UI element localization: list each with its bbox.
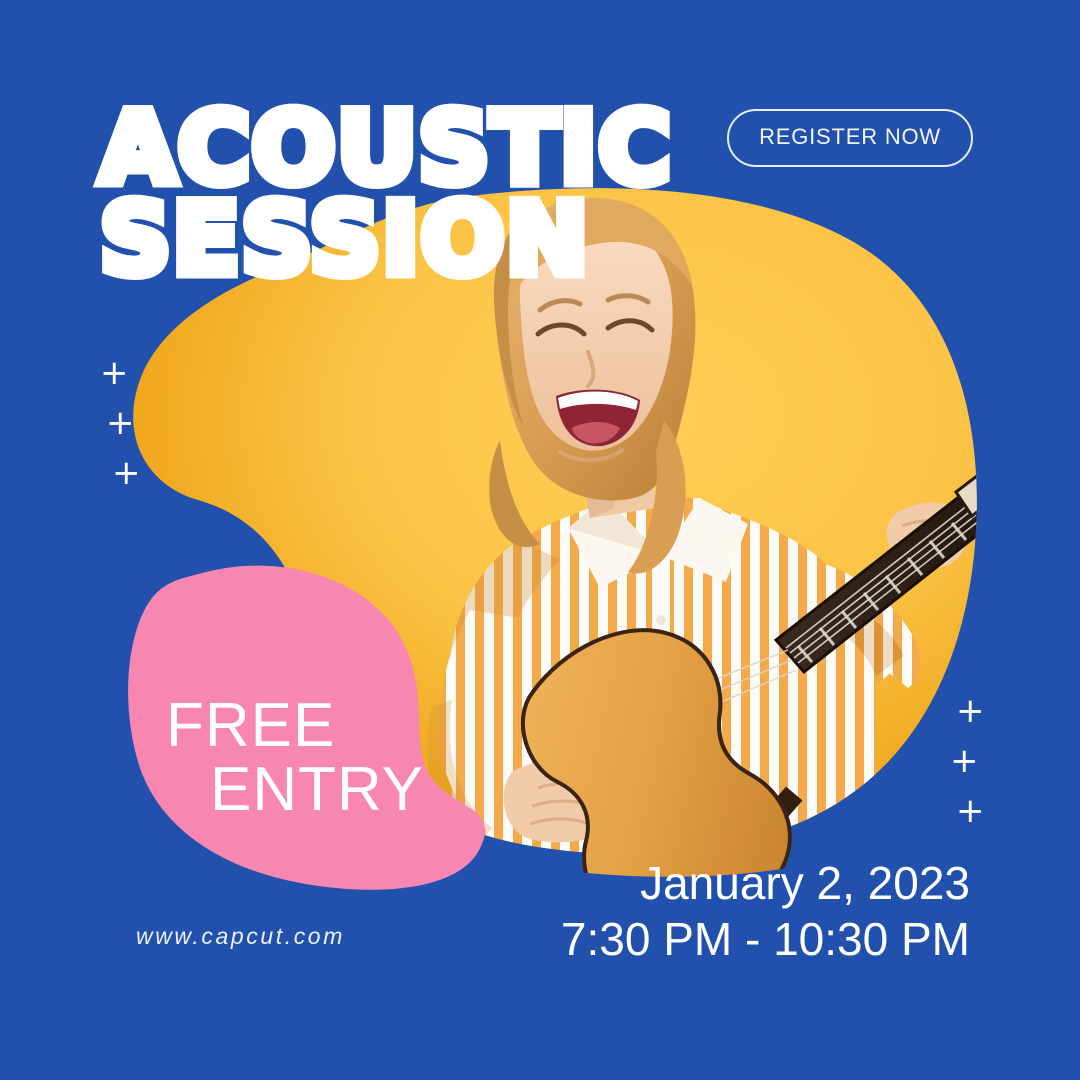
plus-icon: + bbox=[956, 694, 985, 728]
plus-decoration-group-left: + + + bbox=[96, 356, 156, 496]
event-date: January 2, 2023 bbox=[561, 855, 970, 911]
free-entry-line-1: FREE bbox=[150, 694, 424, 758]
free-entry-badge: FREE ENTRY bbox=[150, 694, 424, 822]
event-schedule: January 2, 2023 7:30 PM - 10:30 PM bbox=[561, 855, 970, 967]
register-now-button[interactable]: REGISTER NOW bbox=[727, 109, 973, 167]
website-url[interactable]: www.capcut.com bbox=[136, 923, 345, 950]
page-title: ACOUSTIC SESSION bbox=[100, 104, 672, 286]
plus-icon: + bbox=[956, 794, 985, 828]
free-entry-line-2: ENTRY bbox=[150, 758, 424, 822]
plus-decoration-group-right: + + + bbox=[940, 694, 1000, 834]
plus-icon: + bbox=[112, 456, 141, 490]
title-line-2: SESSION bbox=[100, 195, 672, 286]
event-time: 7:30 PM - 10:30 PM bbox=[561, 911, 970, 967]
plus-icon: + bbox=[100, 356, 129, 390]
title-line-1: ACOUSTIC bbox=[100, 104, 672, 195]
plus-icon: + bbox=[950, 744, 979, 778]
plus-icon: + bbox=[106, 406, 135, 440]
poster-canvas: ACOUSTIC SESSION REGISTER NOW FREE ENTRY… bbox=[0, 0, 1080, 1080]
